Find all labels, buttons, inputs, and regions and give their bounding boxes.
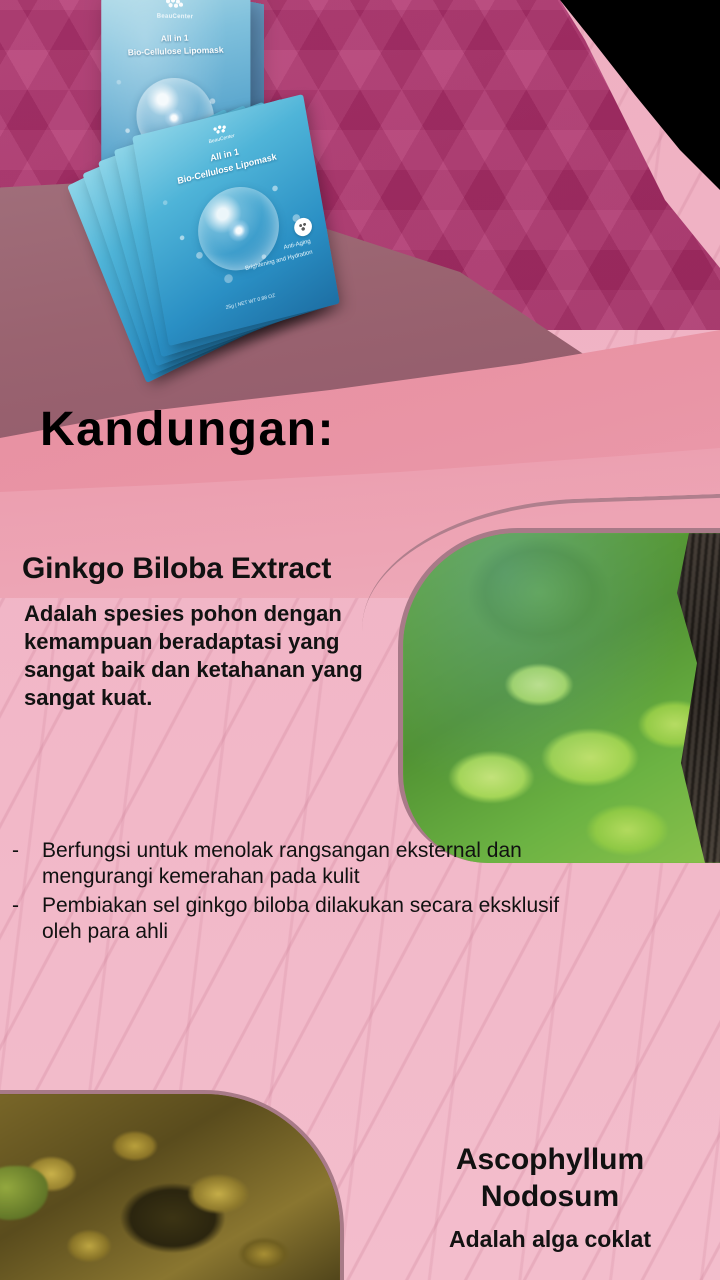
ginkgo-bullet-list: - Berfungsi untuk menolak rangsangan eks…: [12, 838, 582, 948]
ascophyllum-description: Adalah alga coklat: [400, 1226, 700, 1253]
ginkgo-photo: [398, 528, 720, 863]
brown-algae-image: [0, 1094, 340, 1280]
ginkgo-description: Adalah spesies pohon dengan kemampuan be…: [24, 600, 384, 713]
ginkgo-heading: Ginkgo Biloba Extract: [22, 552, 331, 586]
photo-bokeh-haze: [403, 533, 720, 863]
ascophyllum-heading: Ascophyllum Nodosum: [400, 1142, 700, 1215]
seaweed-photo: [0, 1090, 344, 1280]
product-photo: BeauCenter All in 1 Bio-Cellulose Lipoma…: [58, 0, 498, 392]
list-item: - Pembiakan sel ginkgo biloba dilakukan …: [12, 893, 582, 946]
box-product-title: All in 1 Bio-Cellulose Lipomask: [101, 30, 250, 60]
logo-dots-mark: [165, 0, 185, 9]
mask-sachet-front: BeauCenter All in 1 Bio-Cellulose Lipoma…: [132, 94, 340, 346]
bullet-text: Pembiakan sel ginkgo biloba dilakukan se…: [42, 893, 582, 946]
bullet-text: Berfungsi untuk menolak rangsangan ekste…: [42, 838, 582, 891]
bullet-marker-icon: -: [12, 893, 24, 946]
bullet-marker-icon: -: [12, 838, 24, 891]
page-title: Kandungan:: [40, 404, 335, 457]
poster-canvas: BeauCenter All in 1 Bio-Cellulose Lipoma…: [0, 0, 720, 1280]
list-item: - Berfungsi untuk menolak rangsangan eks…: [12, 838, 582, 891]
